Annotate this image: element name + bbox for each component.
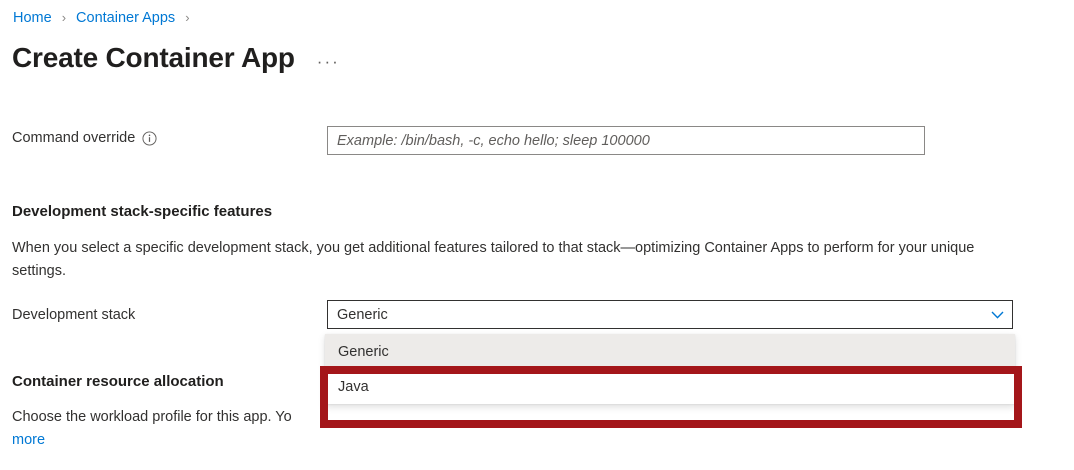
resource-section-description: Choose the workload profile for this app… [12,406,1012,452]
development-stack-selected-value: Generic [328,305,982,325]
learn-more-link[interactable]: more [12,432,45,448]
development-stack-label: Development stack [12,305,135,325]
dropdown-option-label: Java [338,379,369,395]
dev-stack-section-description: When you select a specific development s… [12,237,1012,283]
development-stack-dropdown-list: Generic Java [325,334,1015,404]
page-title-row: Create Container App ··· [12,40,340,76]
breadcrumb-separator-icon: › [62,8,66,28]
command-override-label-group: Command override [12,128,157,148]
dropdown-option-label: Generic [338,344,389,360]
breadcrumb-item-container-apps[interactable]: Container Apps [75,8,176,28]
breadcrumb-separator-icon: › [185,8,189,28]
resource-section-description-text: Choose the workload profile for this app… [12,409,292,425]
command-override-input[interactable] [327,126,925,155]
dev-stack-section-heading: Development stack-specific features [12,202,272,222]
page-title: Create Container App [12,40,295,76]
breadcrumb-item-home[interactable]: Home [12,8,53,28]
chevron-down-icon[interactable] [982,311,1012,319]
dropdown-option-java[interactable]: Java [325,369,1015,404]
breadcrumb: Home › Container Apps › [12,8,199,28]
development-stack-combobox[interactable]: Generic [327,300,1013,329]
more-actions-icon[interactable]: ··· [317,52,340,72]
resource-section-heading: Container resource allocation [12,372,224,392]
dropdown-option-generic[interactable]: Generic [325,334,1015,369]
command-override-label: Command override [12,128,135,148]
info-icon[interactable] [142,131,157,146]
